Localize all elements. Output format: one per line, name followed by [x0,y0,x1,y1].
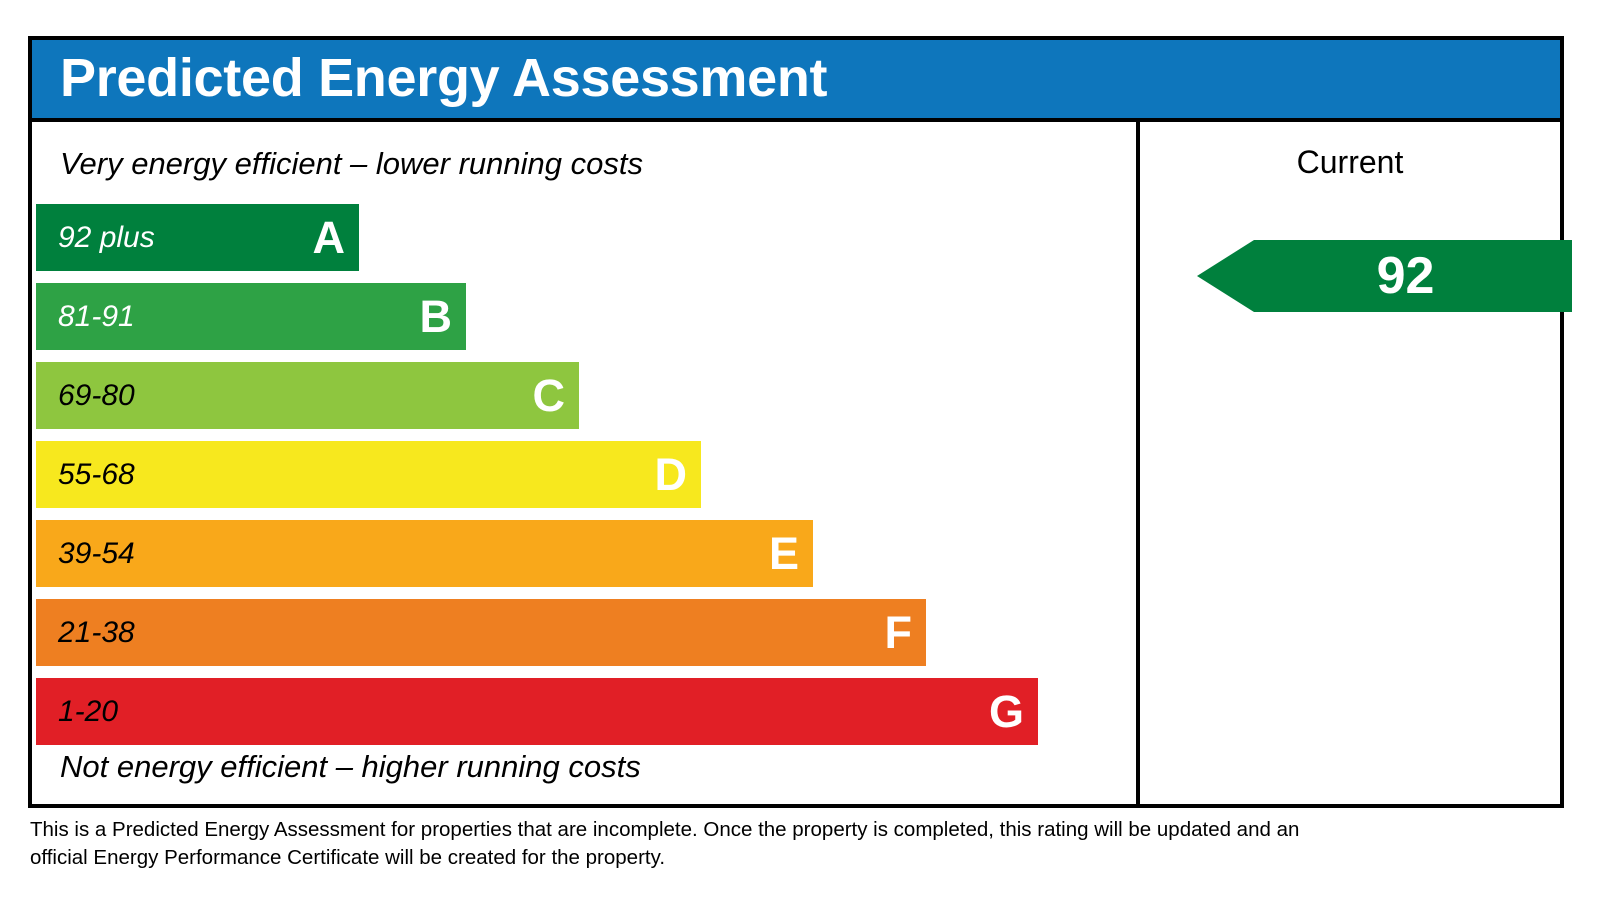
footer-note: This is a Predicted Energy Assessment fo… [30,816,1330,872]
band-range-label: 69-80 [58,381,135,411]
page-title: Predicted Energy Assessment [60,51,827,105]
energy-band-d: 55-68D [36,441,701,508]
energy-bands-column: Very energy efficient – lower running co… [32,122,1140,804]
energy-band-list: 92 plusA81-91B69-80C55-68D39-54E21-38F1-… [36,204,1136,751]
chart-body: Very energy efficient – lower running co… [32,122,1560,804]
band-range-label: 39-54 [58,539,135,569]
band-letter-e: E [769,531,799,576]
band-range-label: 81-91 [58,302,135,332]
caption-very-efficient: Very energy efficient – lower running co… [60,148,643,179]
band-letter-d: D [655,452,688,497]
band-letter-a: A [313,215,346,260]
energy-band-a: 92 plusA [36,204,359,271]
band-letter-c: C [533,373,566,418]
band-letter-g: G [989,689,1024,734]
band-range-label: 21-38 [58,618,135,648]
band-letter-f: F [885,610,913,655]
energy-band-e: 39-54E [36,520,813,587]
band-range-label: 92 plus [58,223,155,253]
caption-not-efficient: Not energy efficient – higher running co… [60,751,641,782]
energy-band-f: 21-38F [36,599,926,666]
band-letter-b: B [420,294,453,339]
energy-band-c: 69-80C [36,362,579,429]
energy-band-b: 81-91B [36,283,466,350]
title-bar: Predicted Energy Assessment [32,40,1560,122]
epc-chart-box: Predicted Energy Assessment Very energy … [28,36,1564,808]
band-range-label: 1-20 [58,697,118,727]
arrow-left-icon [1197,240,1572,312]
current-column-header: Current [1140,146,1560,178]
current-rating-arrow: 92 [1197,240,1572,312]
energy-band-g: 1-20G [36,678,1038,745]
epc-certificate: Predicted Energy Assessment Very energy … [0,0,1600,900]
band-range-label: 55-68 [58,460,135,490]
current-rating-column: Current 92 [1140,122,1560,804]
